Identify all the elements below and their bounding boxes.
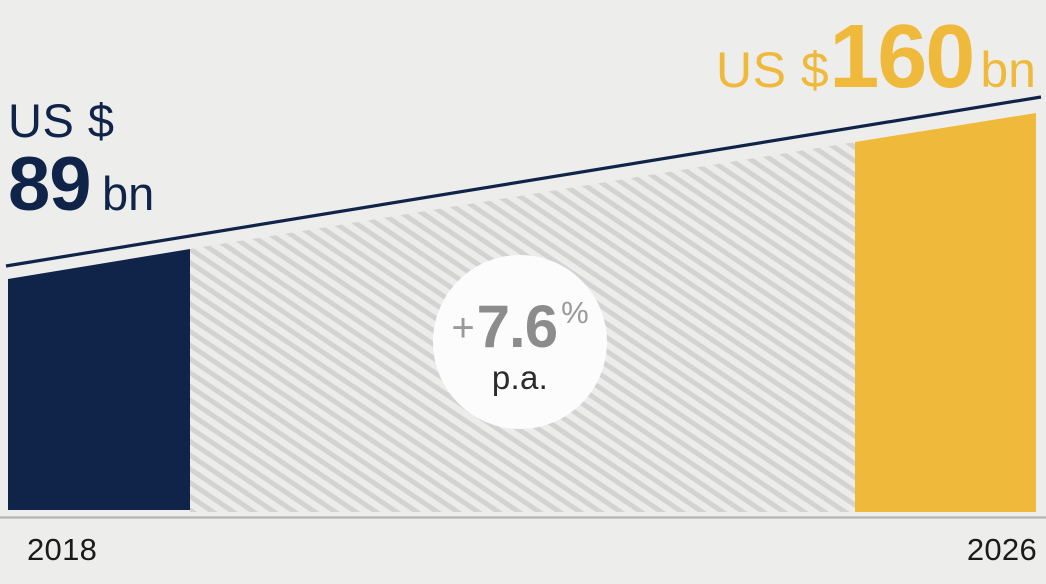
axis-label-2026: 2026 (967, 534, 1037, 565)
cagr-sign: + (451, 306, 474, 351)
value-number-2026: 160 (829, 7, 973, 107)
currency-prefix-2026: US $ (716, 42, 829, 98)
percent-symbol: % (561, 295, 589, 331)
value-label-2026: US $160bn (716, 12, 1036, 102)
chart-canvas: US $ 89 bn US $160bn + 7.6 % p.a. 2018 2… (0, 0, 1046, 584)
axis-label-2018: 2018 (27, 534, 97, 565)
value-line-2018: 89 bn (8, 147, 154, 223)
cagr-value: 7.6 (477, 292, 557, 361)
cagr-badge: + 7.6 % p.a. (433, 255, 607, 429)
bar-2018 (8, 249, 190, 510)
cagr-period: p.a. (492, 359, 548, 397)
value-label-2018: US $ 89 bn (8, 96, 154, 223)
value-unit-2026: bn (980, 42, 1036, 98)
bar-2026 (855, 113, 1036, 512)
currency-prefix-2018: US $ (8, 96, 154, 145)
value-number-2018: 89 (8, 142, 91, 227)
cagr-rate-line: + 7.6 % (451, 292, 588, 361)
value-unit-2018: bn (102, 167, 154, 220)
